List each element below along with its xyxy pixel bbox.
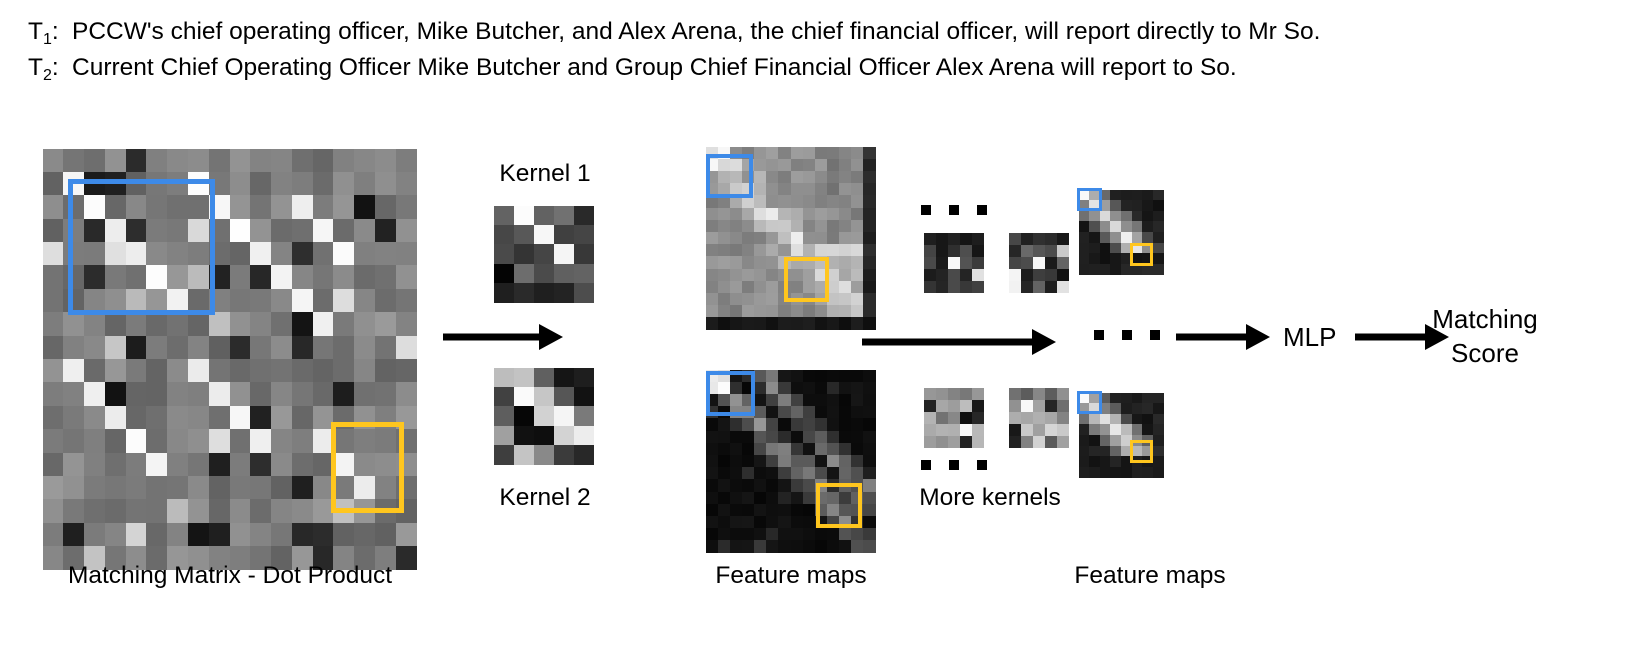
- pooled-feature-map-2-heatmap: [1079, 393, 1164, 478]
- matching-matrix-caption: Matching Matrix - Dot Product: [43, 562, 417, 590]
- dot-7: [1094, 330, 1104, 340]
- mlp-label: MLP: [1283, 322, 1336, 353]
- dot-3: [977, 205, 987, 215]
- pipeline-ellipsis-dots: [1094, 330, 1160, 340]
- dot-8: [1122, 330, 1132, 340]
- matching-matrix-heatmap: [43, 149, 417, 570]
- dot-9: [1150, 330, 1160, 340]
- more-kernel-b-heatmap: [1009, 233, 1069, 293]
- feature-maps-1-caption: Feature maps: [676, 562, 906, 590]
- pooled-feature-map-1-heatmap: [1079, 190, 1164, 275]
- matching-score-line-1: Matching: [1400, 302, 1570, 336]
- dot-2: [949, 205, 959, 215]
- feature-map-2-heatmap: [706, 370, 876, 553]
- more-kernel-d-heatmap: [1009, 388, 1069, 448]
- kernel-1-heatmap: [494, 206, 594, 303]
- dot-1: [921, 205, 931, 215]
- more-kernel-c-heatmap: [924, 388, 984, 448]
- dot-4: [921, 460, 931, 470]
- dot-6: [977, 460, 987, 470]
- top-ellipsis-dots: [921, 205, 987, 215]
- more-kernel-a-heatmap: [924, 233, 984, 293]
- matching-score-line-2: Score: [1400, 336, 1570, 370]
- kernel-1-caption: Kernel 1: [490, 160, 600, 188]
- bottom-ellipsis-dots: [921, 460, 987, 470]
- feature-maps-2-caption: Feature maps: [1030, 562, 1270, 590]
- kernel-2-caption: Kernel 2: [490, 484, 600, 512]
- dot-5: [949, 460, 959, 470]
- more-kernels-caption: More kernels: [875, 484, 1105, 512]
- feature-map-1-heatmap: [706, 147, 876, 330]
- matching-score-label: Matching Score: [1400, 302, 1570, 370]
- kernel-2-heatmap: [494, 368, 594, 465]
- architecture-diagram: Matching Matrix - Dot Product Kernel 1 K…: [0, 0, 1650, 648]
